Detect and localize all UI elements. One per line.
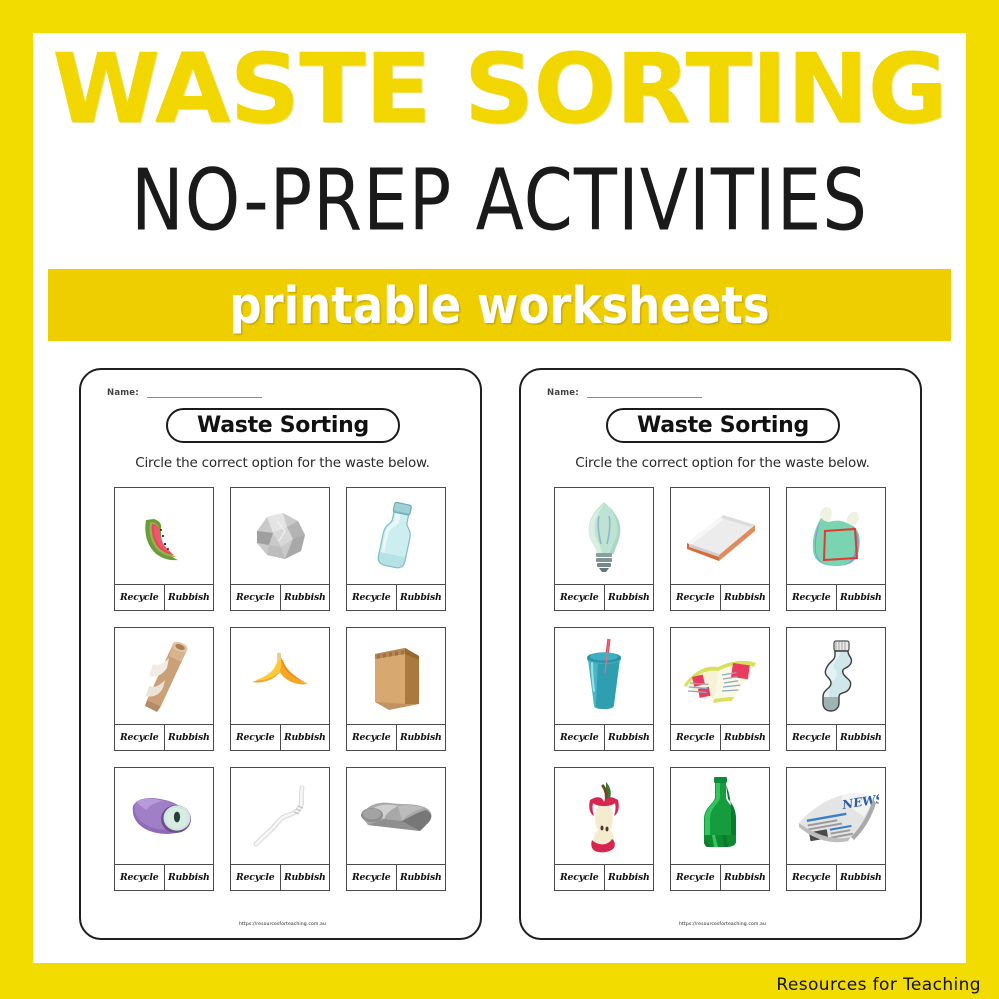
waste-card-options: Recycle Rubbish [347, 584, 445, 610]
waste-card[interactable]: Recycle Rubbish [670, 487, 770, 611]
waste-card[interactable]: Recycle Rubbish [786, 627, 886, 751]
worksheet-instruction: Circle the correct option for the waste … [521, 455, 924, 471]
option-recycle[interactable]: Recycle [347, 725, 397, 750]
option-rubbish[interactable]: Rubbish [837, 585, 886, 610]
open-magazine-icon [671, 628, 769, 724]
option-rubbish[interactable]: Rubbish [837, 725, 886, 750]
option-recycle[interactable]: Recycle [671, 865, 721, 890]
paper-bag-icon [347, 628, 445, 724]
option-recycle[interactable]: Recycle [231, 725, 281, 750]
waste-card-options: Recycle Rubbish [115, 724, 213, 750]
plastic-bag-icon [787, 488, 885, 584]
name-label: Name: [107, 388, 139, 398]
name-write-line[interactable] [147, 387, 262, 398]
option-recycle[interactable]: Recycle [787, 585, 837, 610]
waste-card-options: Recycle Rubbish [347, 864, 445, 890]
watermelon-rind-icon [115, 488, 213, 584]
worksheet-right[interactable]: Name: Waste Sorting Circle the correct o… [519, 368, 922, 940]
worksheet-heading: Waste Sorting [197, 413, 369, 438]
waste-card[interactable]: Recycle Rubbish [230, 767, 330, 891]
waste-card-options: Recycle Rubbish [671, 864, 769, 890]
option-recycle[interactable]: Recycle [231, 865, 281, 890]
option-rubbish[interactable]: Rubbish [397, 585, 446, 610]
waste-card[interactable]: Recycle Rubbish [114, 767, 214, 891]
option-recycle[interactable]: Recycle [555, 725, 605, 750]
printable-banner-label: printable worksheets [48, 265, 951, 346]
option-rubbish[interactable]: Rubbish [837, 865, 886, 890]
waste-card-options: Recycle Rubbish [231, 584, 329, 610]
waste-card-options: Recycle Rubbish [671, 584, 769, 610]
brand-label: Resources for Teaching [776, 975, 981, 995]
waste-card[interactable]: Recycle Rubbish [554, 627, 654, 751]
option-recycle[interactable]: Recycle [231, 585, 281, 610]
page-subtitle: NO-PREP ACTIVITIES [42, 154, 956, 246]
option-rubbish[interactable]: Rubbish [397, 865, 446, 890]
name-write-line[interactable] [587, 387, 702, 398]
option-recycle[interactable]: Recycle [671, 725, 721, 750]
worksheet-footer-url: https://resourcesforteaching.com.au [81, 922, 484, 927]
waste-card-options: Recycle Rubbish [555, 724, 653, 750]
waste-card[interactable]: Recycle Rubbish [346, 767, 446, 891]
crumpled-paper-icon [231, 488, 329, 584]
aluminium-foil-icon [347, 768, 445, 864]
crushed-water-bottle-icon [787, 628, 885, 724]
waste-card-options: Recycle Rubbish [555, 864, 653, 890]
waste-card[interactable]: Recycle Rubbish [230, 627, 330, 751]
option-recycle[interactable]: Recycle [787, 865, 837, 890]
option-rubbish[interactable]: Rubbish [281, 585, 330, 610]
option-recycle[interactable]: Recycle [555, 585, 605, 610]
poster-canvas: WASTE SORTING NO-PREP ACTIVITIES printab… [33, 33, 966, 963]
name-label: Name: [547, 388, 579, 398]
waste-card-options: Recycle Rubbish [231, 724, 329, 750]
option-rubbish[interactable]: Rubbish [397, 725, 446, 750]
worksheet-heading-pill: Waste Sorting [606, 408, 840, 443]
book-icon [671, 488, 769, 584]
worksheet-instruction: Circle the correct option for the waste … [81, 455, 484, 471]
waste-card-options: Recycle Rubbish [115, 584, 213, 610]
plastic-cup-icon [555, 628, 653, 724]
option-recycle[interactable]: Recycle [347, 585, 397, 610]
worksheet-previews: Name: Waste Sorting Circle the correct o… [33, 368, 966, 958]
option-recycle[interactable]: Recycle [115, 725, 165, 750]
option-rubbish[interactable]: Rubbish [605, 725, 654, 750]
worksheet-heading: Waste Sorting [637, 413, 809, 438]
glass-milk-bottle-icon [347, 488, 445, 584]
option-rubbish[interactable]: Rubbish [605, 585, 654, 610]
waste-card-options: Recycle Rubbish [787, 864, 885, 890]
waste-card[interactable]: Recycle Rubbish [230, 487, 330, 611]
option-rubbish[interactable]: Rubbish [281, 865, 330, 890]
waste-card[interactable]: Recycle Rubbish [786, 487, 886, 611]
waste-item-grid: Recycle Rubbish [554, 487, 886, 891]
option-rubbish[interactable]: Rubbish [721, 585, 770, 610]
page-title: WASTE SORTING [24, 41, 976, 137]
toothpaste-tube-icon [115, 768, 213, 864]
waste-card[interactable]: Recycle Rubbish [346, 487, 446, 611]
waste-card[interactable]: Recycle Rubbish [554, 487, 654, 611]
printable-banner: printable worksheets [48, 269, 951, 341]
banana-peel-icon [231, 628, 329, 724]
waste-card[interactable]: Recycle Rubbish [670, 627, 770, 751]
option-recycle[interactable]: Recycle [787, 725, 837, 750]
option-rubbish[interactable]: Rubbish [721, 725, 770, 750]
option-rubbish[interactable]: Rubbish [721, 865, 770, 890]
worksheet-heading-pill: Waste Sorting [166, 408, 400, 443]
option-recycle[interactable]: Recycle [555, 865, 605, 890]
waste-card-options: Recycle Rubbish [671, 724, 769, 750]
food-wrapper-icon [115, 628, 213, 724]
waste-card[interactable]: Recycle Rubbish [114, 487, 214, 611]
waste-card-options: Recycle Rubbish [231, 864, 329, 890]
waste-card-options: Recycle Rubbish [787, 724, 885, 750]
green-glass-bottle-icon [671, 768, 769, 864]
name-field[interactable]: Name: [547, 387, 702, 398]
option-rubbish[interactable]: Rubbish [165, 865, 214, 890]
waste-card-options: Recycle Rubbish [787, 584, 885, 610]
apple-core-icon [555, 768, 653, 864]
waste-card-options: Recycle Rubbish [115, 864, 213, 890]
waste-card[interactable]: Recycle Rubbish [346, 627, 446, 751]
option-rubbish[interactable]: Rubbish [281, 725, 330, 750]
worksheet-left[interactable]: Name: Waste Sorting Circle the correct o… [79, 368, 482, 940]
waste-item-grid: Recycle Rubbish [114, 487, 446, 891]
option-rubbish[interactable]: Rubbish [165, 585, 214, 610]
option-rubbish[interactable]: Rubbish [165, 725, 214, 750]
waste-card[interactable]: Recycle Rubbish [114, 627, 214, 751]
waste-card-options: Recycle Rubbish [555, 584, 653, 610]
option-recycle[interactable]: Recycle [347, 865, 397, 890]
waste-card[interactable]: Recycle Rubbish [554, 767, 654, 891]
option-recycle[interactable]: Recycle [671, 585, 721, 610]
worksheet-footer-url: https://resourcesforteaching.com.au [521, 922, 924, 927]
waste-card[interactable]: NEWS [786, 767, 886, 891]
option-rubbish[interactable]: Rubbish [605, 865, 654, 890]
option-recycle[interactable]: Recycle [115, 865, 165, 890]
name-field[interactable]: Name: [107, 387, 262, 398]
waste-card-options: Recycle Rubbish [347, 724, 445, 750]
option-recycle[interactable]: Recycle [115, 585, 165, 610]
plastic-straw-icon [231, 768, 329, 864]
newspaper-icon: NEWS [787, 768, 885, 864]
waste-card[interactable]: Recycle Rubbish [670, 767, 770, 891]
light-bulb-icon [555, 488, 653, 584]
